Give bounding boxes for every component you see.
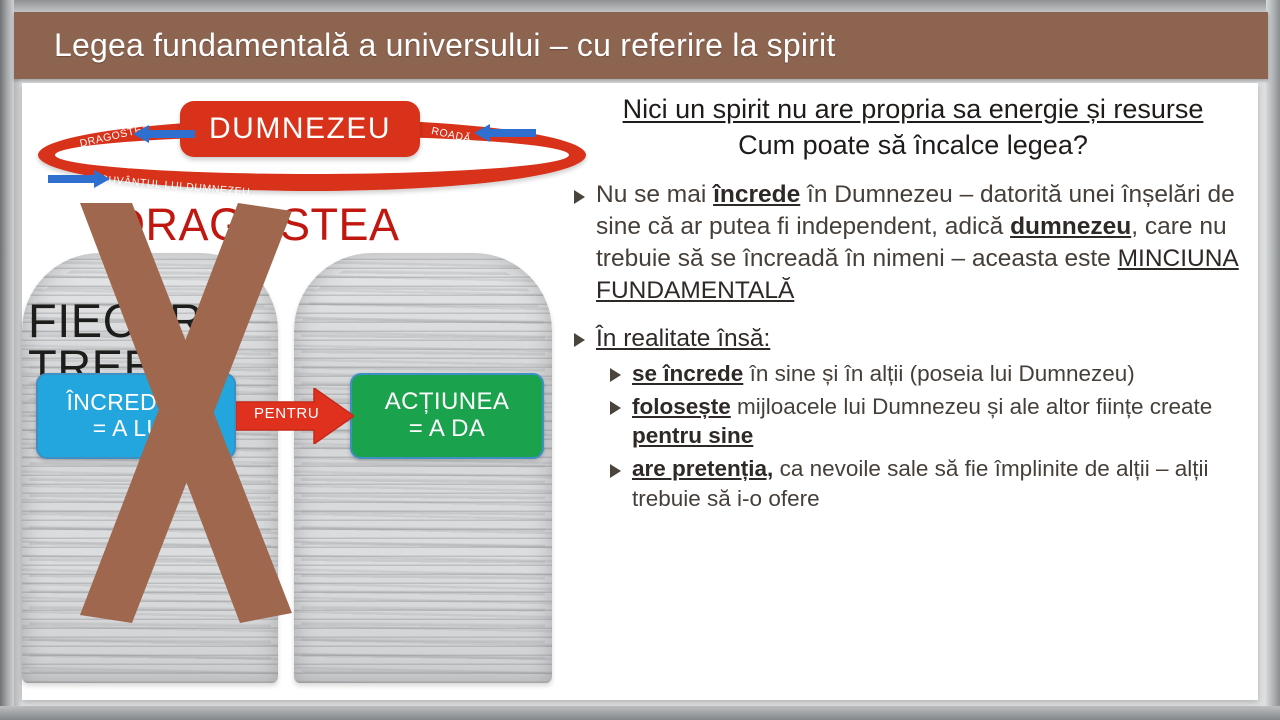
actiunea-line2: = A DA (409, 416, 485, 443)
bullet-text-run: dumnezeu (1010, 213, 1131, 240)
frame-bottom-edge (0, 706, 1280, 720)
bullet-text-run: se încrede (632, 361, 743, 386)
sub-bullet-item: folosește mijloacele lui Dumnezeu și ale… (610, 392, 1252, 451)
cross-out-x-icon (70, 203, 300, 623)
god-cycle-diagram: DUMNEZEU DRAGOSTEA ROADĂ CUVÂNTUL LUI DU… (30, 97, 590, 197)
body-heading-1: Nici un spirit nu are propria sa energie… (574, 91, 1252, 127)
arrow-right-icon (474, 123, 536, 143)
frame-left-edge (0, 0, 14, 720)
bullet-item: În realitate însă: (574, 323, 1252, 355)
bullet-triangle-icon (610, 464, 621, 478)
actiunea-line1: ACȚIUNEA (385, 389, 510, 416)
bullet-triangle-icon (574, 333, 585, 347)
bullet-text-run: în sine și în alții (poseia lui Dumnezeu… (743, 361, 1134, 386)
left-illustration-column: DUMNEZEU DRAGOSTEA ROADĂ CUVÂNTUL LUI DU… (22, 83, 582, 700)
bullet-text-run: are pretenția, (632, 456, 773, 481)
bullet-triangle-icon (574, 190, 585, 204)
bullet-text-run: În realitate însă: (596, 325, 770, 352)
bullet-list: Nu se mai încrede în Dumnezeu – datorită… (574, 179, 1252, 512)
tablet-right-texture (301, 265, 545, 673)
bullet-text-run: mijloacele lui Dumnezeu și ale altor fii… (731, 394, 1212, 419)
frame-top-edge (0, 0, 1280, 12)
slide-title: Legea fundamentală a universului – cu re… (54, 26, 835, 63)
bullet-text-run: Nu se mai (596, 181, 713, 208)
bullet-text-run: folosește (632, 394, 731, 419)
slide-title-bar: Legea fundamentală a universului – cu re… (14, 12, 1268, 79)
slide-canvas: Legea fundamentală a universului – cu re… (0, 0, 1280, 720)
sub-bullet-item: se încrede în sine și în alții (poseia l… (610, 359, 1252, 388)
actiunea-box: ACȚIUNEA = A DA (350, 373, 544, 459)
sub-bullet-item: are pretenția, ca nevoile sale să fie îm… (610, 454, 1252, 513)
body-heading-2: Cum poate să încalce legea? (574, 127, 1252, 163)
bullet-triangle-icon (610, 401, 621, 415)
bullet-item: Nu se mai încrede în Dumnezeu – datorită… (574, 179, 1252, 306)
arrow-bottom-icon (48, 169, 110, 189)
bullet-text-run: pentru sine (632, 423, 753, 448)
dumnezeu-box: DUMNEZEU (180, 101, 420, 157)
bullet-text-run: încrede (713, 181, 800, 208)
slide-content-panel: DUMNEZEU DRAGOSTEA ROADĂ CUVÂNTUL LUI DU… (22, 83, 1258, 700)
bullet-triangle-icon (610, 368, 621, 382)
frame-right-edge (1266, 0, 1280, 720)
dumnezeu-label: DUMNEZEU (209, 112, 391, 146)
body-headings: Nici un spirit nu are propria sa energie… (574, 91, 1252, 163)
arrow-left-icon (133, 124, 195, 144)
sub-bullet-list: se încrede în sine și în alții (poseia l… (610, 359, 1252, 513)
right-text-column: Nici un spirit nu are propria sa energie… (574, 87, 1252, 697)
stone-tablet-right (294, 253, 552, 683)
